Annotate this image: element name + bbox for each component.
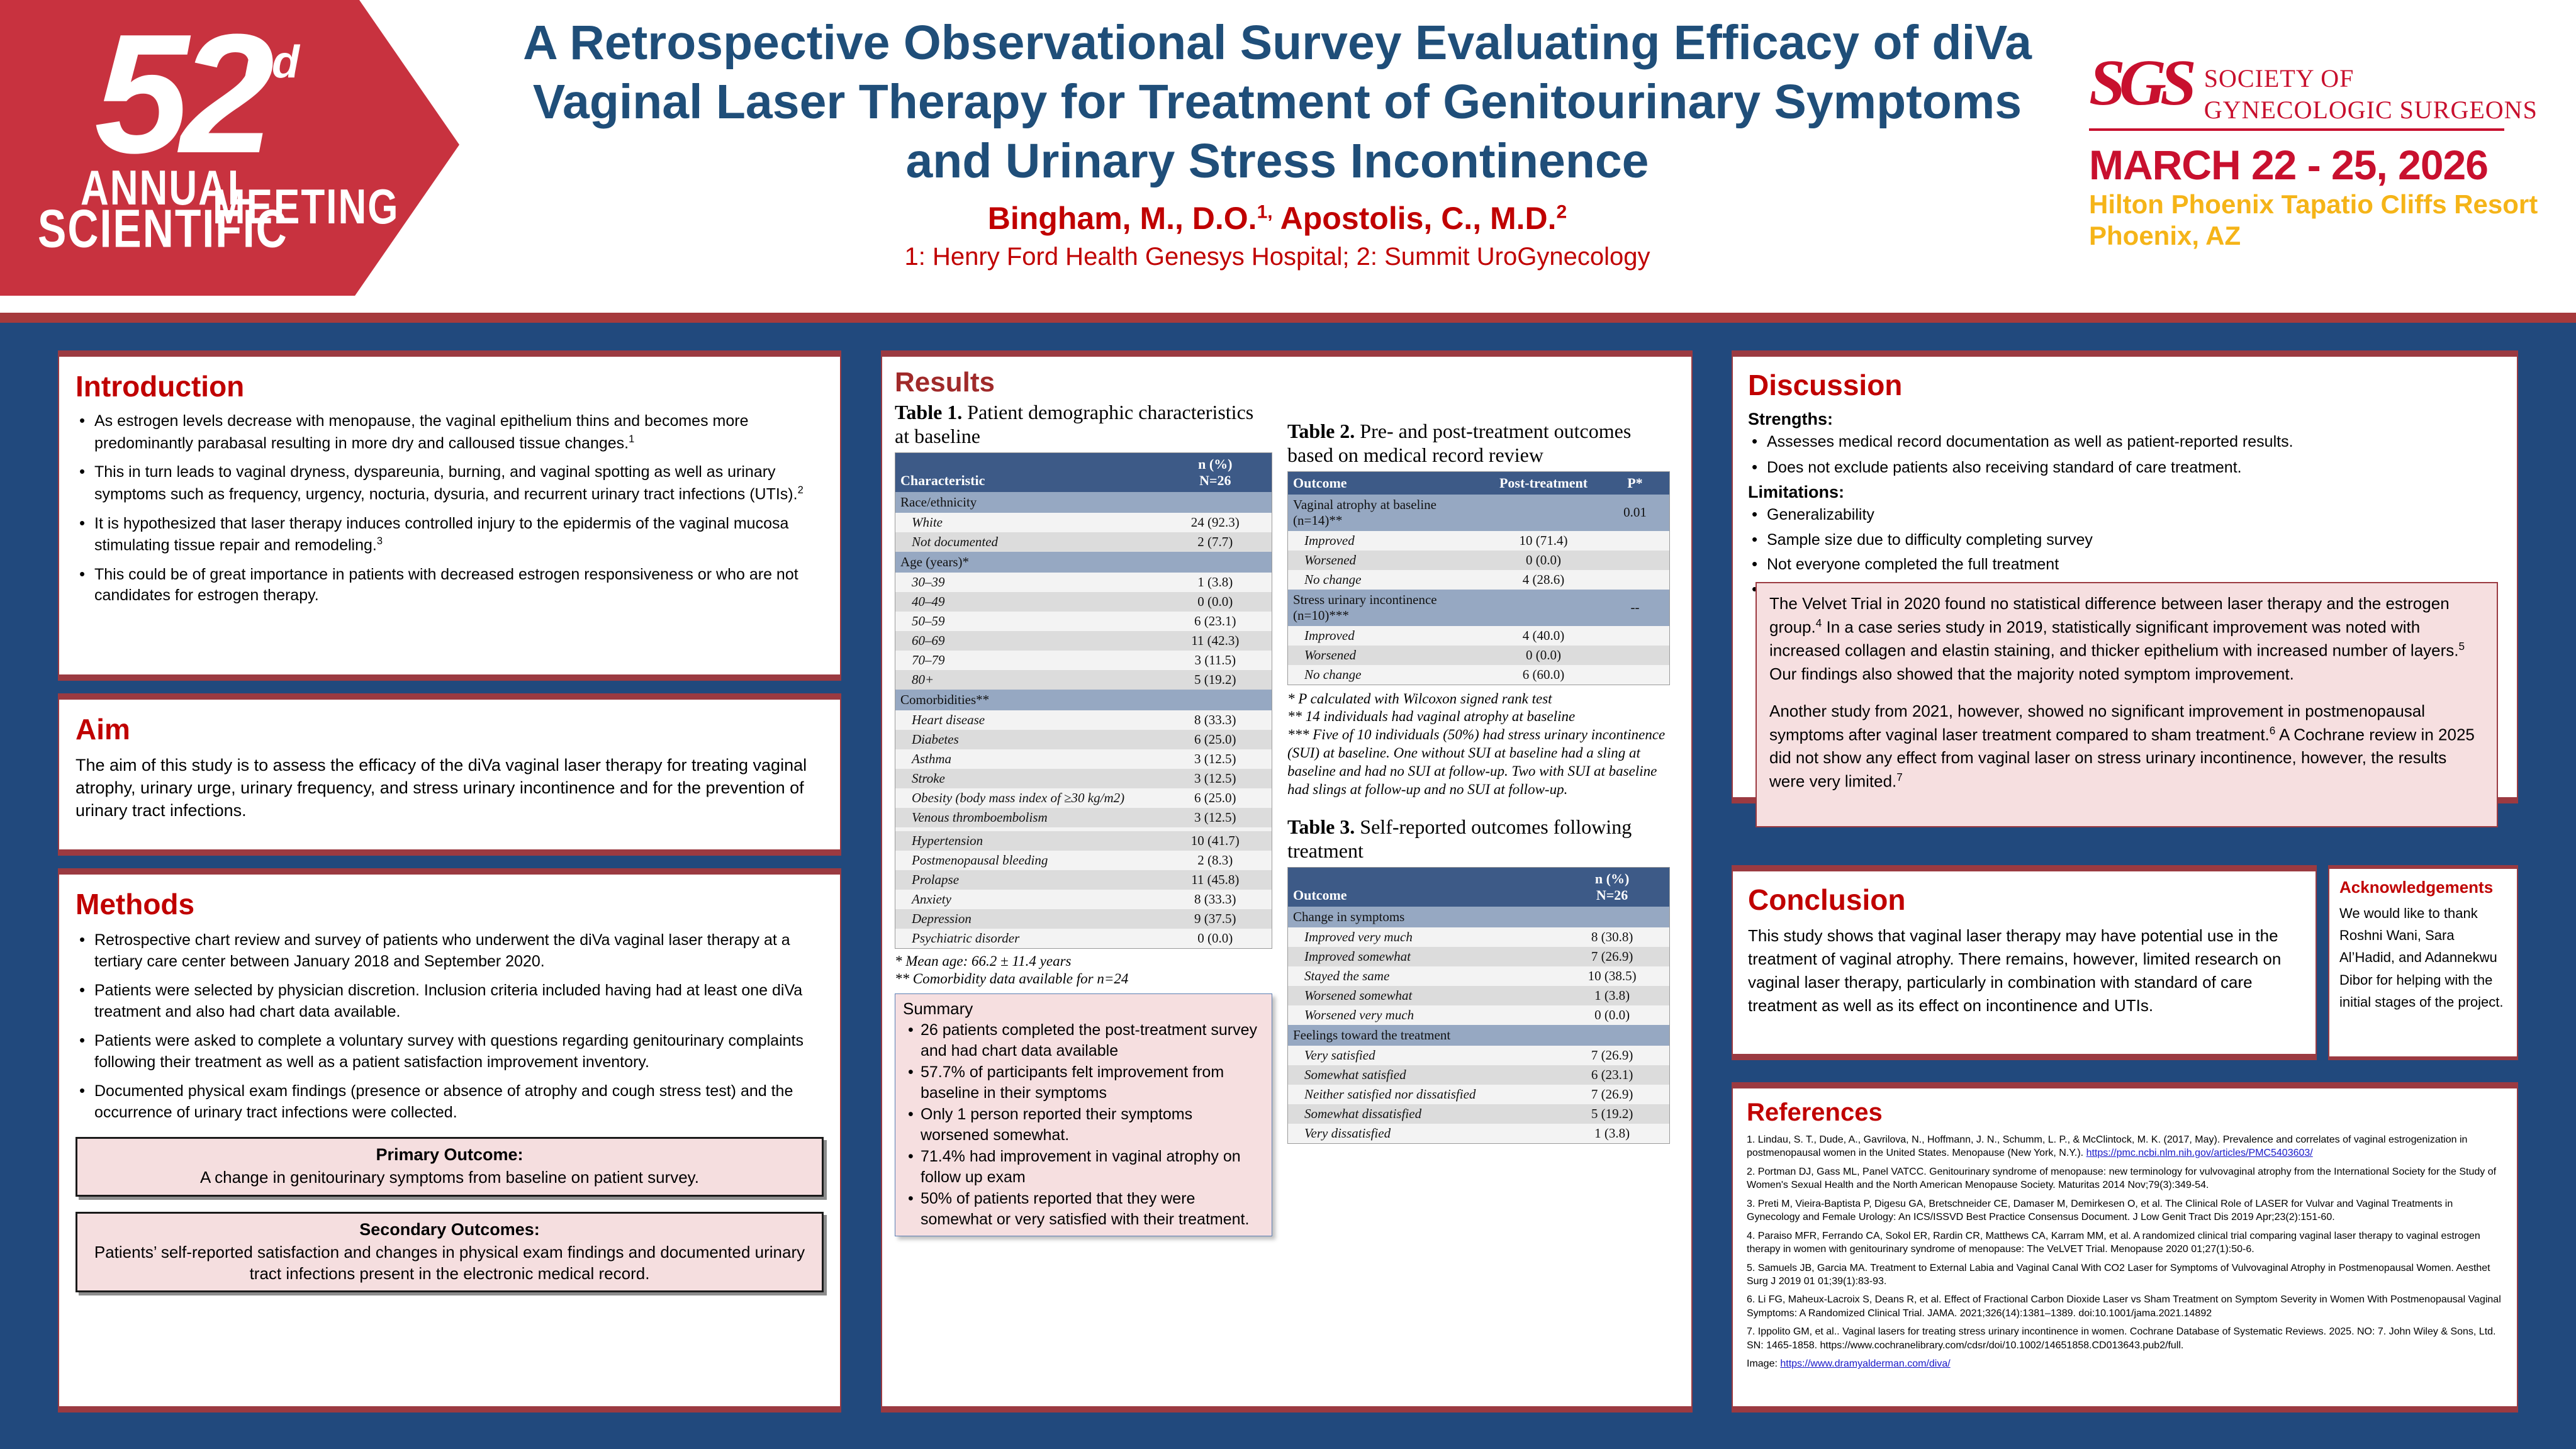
meeting-ordinal: nd xyxy=(244,36,300,88)
table-group-row: Stress urinary incontinence (n=10)***-- xyxy=(1288,590,1669,626)
table-cell-label: Not documented xyxy=(895,532,1159,552)
discussion-p2-ref-2: 7 xyxy=(1896,771,1903,783)
table1-header-count: n (%) N=26 xyxy=(1159,453,1272,492)
table-cell-label: Psychiatric disorder xyxy=(895,929,1159,948)
table-group-label: Age (years)* xyxy=(895,552,1159,573)
table1-header-count-line2: N=26 xyxy=(1164,473,1267,489)
discussion-p1-part-c: Our findings also showed that the majori… xyxy=(1769,664,2294,683)
table-row: Stayed the same10 (38.5) xyxy=(1288,966,1669,986)
table-cell-label: Worsened xyxy=(1288,646,1486,665)
table-cell-value: 8 (33.3) xyxy=(1159,710,1272,730)
list-item: This in turn leads to vaginal dryness, d… xyxy=(76,462,824,505)
methods-panel: Methods Retrospective chart review and s… xyxy=(58,868,841,1413)
table-row: Postmenopausal bleeding2 (8.3) xyxy=(895,851,1272,870)
table-cell-label: 40–49 xyxy=(895,592,1159,612)
table-row: Improved10 (71.4) xyxy=(1288,531,1669,551)
limitations-heading: Limitations: xyxy=(1748,483,2502,502)
table-cell-value: 5 (19.2) xyxy=(1159,670,1272,690)
table-cell-label: Stayed the same xyxy=(1288,966,1555,986)
affiliations: 1: Henry Ford Health Genesys Hospital; 2… xyxy=(497,243,2058,271)
table-cell-value: 2 (7.7) xyxy=(1159,532,1272,552)
table2-header-p: P* xyxy=(1601,472,1669,495)
table-cell-label: Somewhat dissatisfied xyxy=(1288,1104,1555,1124)
reference-text: 6. Li FG, Maheux-Lacroix S, Deans R, et … xyxy=(1747,1294,2501,1318)
table-row: 70–793 (11.5) xyxy=(895,651,1272,670)
table-cell-label: Hypertension xyxy=(895,831,1159,851)
reference-item: 7. Ippolito GM, et al.. Vaginal lasers f… xyxy=(1747,1325,2503,1352)
sgs-divider xyxy=(2089,128,2504,131)
table-cell-value xyxy=(1486,590,1601,626)
primary-outcome-body: A change in genitourinary symptoms from … xyxy=(87,1167,812,1189)
table-cell-label: Worsened somewhat xyxy=(1288,986,1555,1005)
discussion-p2-ref-1: 6 xyxy=(2270,724,2276,737)
author-list: Bingham, M., D.O.1, Apostolis, C., M.D.2 xyxy=(497,200,2058,237)
table-cell-value: 1 (3.8) xyxy=(1555,1124,1669,1143)
sgs-wordmark: SGS xyxy=(2089,53,2190,113)
list-item: Retrospective chart review and survey of… xyxy=(76,930,824,972)
table2-caption: Table 2. Pre- and post-treatment outcome… xyxy=(1287,420,1670,467)
table-cell-label: Prolapse xyxy=(895,870,1159,890)
table-row: Psychiatric disorder0 (0.0) xyxy=(895,929,1272,948)
list-item: Only 1 person reported their symptoms wo… xyxy=(903,1104,1264,1146)
introduction-title: Introduction xyxy=(76,369,824,403)
table2-header-outcome: Outcome xyxy=(1288,472,1486,495)
acknowledgements-title: Acknowledgements xyxy=(2339,878,2507,897)
table-cell-label: Worsened very much xyxy=(1288,1005,1555,1025)
references-list: 1. Lindau, S. T., Dude, A., Gavrilova, N… xyxy=(1747,1133,2503,1371)
table-cell-label: Worsened xyxy=(1288,551,1486,570)
list-item: It is hypothesized that laser therapy in… xyxy=(76,513,824,556)
table-row: 50–596 (23.1) xyxy=(895,612,1272,631)
table-cell-label: Improved very much xyxy=(1288,927,1555,947)
table1-caption: Table 1. Patient demographic characteris… xyxy=(895,401,1272,449)
table-cell-value: 8 (30.8) xyxy=(1555,927,1669,947)
table-cell-value: 6 (60.0) xyxy=(1486,665,1601,685)
introduction-bullet-2-text: This in turn leads to vaginal dryness, d… xyxy=(94,463,798,503)
title-block: A Retrospective Observational Survey Eva… xyxy=(497,14,2058,271)
table1-header-characteristic: Characteristic xyxy=(895,453,1159,492)
reference-text: 4. Paraiso MFR, Ferrando CA, Sokol ER, R… xyxy=(1747,1231,2480,1255)
table3-header-count-line2: N=26 xyxy=(1560,887,1664,904)
list-item: As estrogen levels decrease with menopau… xyxy=(76,411,824,454)
table-row: Prolapse11 (45.8) xyxy=(895,870,1272,890)
image-credit-label: Image: xyxy=(1747,1358,1780,1369)
table1-header-count-line1: n (%) xyxy=(1164,456,1267,473)
list-item: Does not exclude patients also receiving… xyxy=(1748,457,2502,479)
primary-outcome-box: Primary Outcome: A change in genitourina… xyxy=(76,1137,824,1197)
table-row: Very dissatisfied1 (3.8) xyxy=(1288,1124,1669,1143)
table-cell-value: 0 (0.0) xyxy=(1486,646,1601,665)
sgs-society-line-1: SOCIETY OF xyxy=(2204,63,2538,94)
table-self-reported-outcomes: Outcome n (%) N=26 Change in symptomsImp… xyxy=(1288,868,1669,1143)
table-cell-label: Anxiety xyxy=(895,890,1159,909)
table-cell-value: 2 (8.3) xyxy=(1159,851,1272,870)
list-item: 50% of patients reported that they were … xyxy=(903,1189,1264,1230)
secondary-outcomes-box: Secondary Outcomes: Patients’ self-repor… xyxy=(76,1212,824,1293)
table-cell-label: Very dissatisfied xyxy=(1288,1124,1555,1143)
table3-body: Change in symptomsImproved very much8 (3… xyxy=(1288,907,1669,1143)
list-item: Generalizability xyxy=(1748,505,2502,526)
table-cell-value: 7 (26.9) xyxy=(1555,947,1669,966)
table-cell-value: 0 (0.0) xyxy=(1159,592,1272,612)
table1-footnote-1: * Mean age: 66.2 ± 11.4 years xyxy=(895,953,1272,971)
table-cell-value: 10 (38.5) xyxy=(1555,966,1669,986)
introduction-bullet-1-ref: 1 xyxy=(629,434,634,445)
table-cell-value: 5 (19.2) xyxy=(1555,1104,1669,1124)
table-cell-label: Asthma xyxy=(895,749,1159,769)
list-item: Assesses medical record documentation as… xyxy=(1748,432,2502,453)
conclusion-panel: Conclusion This study shows that vaginal… xyxy=(1732,865,2317,1060)
table-cell-value: 4 (40.0) xyxy=(1486,626,1601,646)
reference-item: 2. Portman DJ, Gass ML, Panel VATCC. Gen… xyxy=(1747,1165,2503,1192)
table-cell-value: 9 (37.5) xyxy=(1159,909,1272,929)
meeting-venue: Hilton Phoenix Tapatio Cliffs Resort xyxy=(2089,189,2542,220)
table-cell-pvalue: -- xyxy=(1601,590,1669,626)
reference-text: 7. Ippolito GM, et al.. Vaginal lasers f… xyxy=(1747,1326,2496,1350)
strengths-heading: Strengths: xyxy=(1748,410,2502,429)
meeting-number: 52 xyxy=(94,18,266,171)
table-cell-value: 1 (3.8) xyxy=(1159,573,1272,592)
table-group-label: Comorbidities** xyxy=(895,690,1159,710)
table-cell-label: Venous thromboembolism xyxy=(895,808,1159,827)
table-row: Improved somewhat7 (26.9) xyxy=(1288,947,1669,966)
discussion-paragraph-1: The Velvet Trial in 2020 found no statis… xyxy=(1769,592,2484,686)
table-row: Somewhat satisfied6 (23.1) xyxy=(1288,1065,1669,1085)
discussion-title: Discussion xyxy=(1748,368,2502,402)
aim-text: The aim of this study is to assess the e… xyxy=(76,754,824,822)
table3-caption-label: Table 3. xyxy=(1287,815,1355,838)
table-cell-value: 1 (3.8) xyxy=(1555,986,1669,1005)
introduction-bullet-2-ref: 2 xyxy=(798,484,804,496)
poster-title-line-2: Vaginal Laser Therapy for Treatment of G… xyxy=(497,73,2058,132)
table-row: Worsened very much0 (0.0) xyxy=(1288,1005,1669,1025)
acknowledgements-text: We would like to thank Roshni Wani, Sara… xyxy=(2339,902,2507,1013)
header-divider-rule xyxy=(0,313,2576,323)
discussion-p1-ref-2: 5 xyxy=(2459,640,2465,652)
table-cell-value: 10 (41.7) xyxy=(1159,831,1272,851)
introduction-bullet-1-text: As estrogen levels decrease with menopau… xyxy=(94,412,748,452)
table-cell-label: Improved xyxy=(1288,531,1486,551)
primary-outcome-heading: Primary Outcome: xyxy=(87,1145,812,1165)
table-cell-value: 3 (12.5) xyxy=(1159,749,1272,769)
poster-title-line-1: A Retrospective Observational Survey Eva… xyxy=(497,14,2058,73)
table1-footnote-2: ** Comorbidity data available for n=24 xyxy=(895,970,1272,988)
table-cell-value: 3 (12.5) xyxy=(1159,808,1272,827)
table-row: Not documented2 (7.7) xyxy=(895,532,1272,552)
results-title: Results xyxy=(895,367,1679,398)
table-row: Improved very much8 (30.8) xyxy=(1288,927,1669,947)
table-cell-label: Improved somewhat xyxy=(1288,947,1555,966)
summary-bullet-list: 26 patients completed the post-treatment… xyxy=(903,1020,1264,1230)
discussion-highlight-box: The Velvet Trial in 2020 found no statis… xyxy=(1756,582,2498,827)
table1-caption-label: Table 1. xyxy=(895,401,962,423)
introduction-bullet-4-text: This could be of great importance in pat… xyxy=(94,566,798,605)
secondary-outcomes-heading: Secondary Outcomes: xyxy=(87,1220,812,1239)
table-cell-value xyxy=(1555,907,1669,927)
table-row: Stroke3 (12.5) xyxy=(895,769,1272,788)
table-row: Worsened0 (0.0) xyxy=(1288,646,1669,665)
table2-caption-label: Table 2. xyxy=(1287,420,1355,442)
table-group-row: Age (years)* xyxy=(895,552,1272,573)
table2-footnote-2: ** 14 individuals had vaginal atrophy at… xyxy=(1287,708,1670,726)
table-cell-value: 6 (25.0) xyxy=(1159,788,1272,808)
table-cell-value: 8 (33.3) xyxy=(1159,890,1272,909)
meeting-dates: MARCH 22 - 25, 2026 xyxy=(2089,141,2542,189)
table3-wrapper: Outcome n (%) N=26 Change in symptomsImp… xyxy=(1287,867,1670,1144)
reference-item: 4. Paraiso MFR, Ferrando CA, Sokol ER, R… xyxy=(1747,1229,2503,1256)
table-row: 40–490 (0.0) xyxy=(895,592,1272,612)
table-group-row: Feelings toward the treatment xyxy=(1288,1025,1669,1046)
table-cell-label: 70–79 xyxy=(895,651,1159,670)
list-item: Not everyone completed the full treatmen… xyxy=(1748,554,2502,576)
table-row: Obesity (body mass index of ≥30 kg/m2)6 … xyxy=(895,788,1272,808)
image-credit-link[interactable]: https://www.dramyalderman.com/diva/ xyxy=(1780,1358,1950,1369)
table-row: 60–6911 (42.3) xyxy=(895,631,1272,651)
image-credit: Image: https://www.dramyalderman.com/div… xyxy=(1747,1357,2503,1370)
table-cell-label: Postmenopausal bleeding xyxy=(895,851,1159,870)
references-panel: References 1. Lindau, S. T., Dude, A., G… xyxy=(1732,1082,2518,1413)
table-cell-pvalue xyxy=(1601,551,1669,570)
introduction-bullet-3-ref: 3 xyxy=(377,535,383,547)
table3-header-outcome: Outcome xyxy=(1288,868,1555,907)
table-cell-label: Obesity (body mass index of ≥30 kg/m2) xyxy=(895,788,1159,808)
table-row: Depression9 (37.5) xyxy=(895,909,1272,929)
table-cell-label: Improved xyxy=(1288,626,1486,646)
table-group-label: Feelings toward the treatment xyxy=(1288,1025,1555,1046)
table2-footnote-3: *** Five of 10 individuals (50%) had str… xyxy=(1287,726,1670,799)
table-group-row: Race/ethnicity xyxy=(895,492,1272,513)
table-group-row: Change in symptoms xyxy=(1288,907,1669,927)
aim-panel: Aim The aim of this study is to assess t… xyxy=(58,693,841,856)
table-group-label: Change in symptoms xyxy=(1288,907,1555,927)
table1-wrapper: Characteristic n (%) N=26 Race/ethnicity… xyxy=(895,452,1272,949)
reference-item: 6. Li FG, Maheux-Lacroix S, Deans R, et … xyxy=(1747,1293,2503,1320)
author-1: Bingham, M., D.O. xyxy=(988,201,1257,236)
table-cell-label: Neither satisfied nor dissatisfied xyxy=(1288,1085,1555,1104)
table-cell-value: 0 (0.0) xyxy=(1486,551,1601,570)
table-group-label: Vaginal atrophy at baseline (n=14)** xyxy=(1288,495,1486,531)
table-cell-value: 4 (28.6) xyxy=(1486,570,1601,590)
table-cell-value: 6 (23.1) xyxy=(1159,612,1272,631)
table-cell-label: No change xyxy=(1288,570,1486,590)
methods-title: Methods xyxy=(76,887,824,921)
table-row: Heart disease8 (33.3) xyxy=(895,710,1272,730)
table-row: No change4 (28.6) xyxy=(1288,570,1669,590)
conclusion-title: Conclusion xyxy=(1748,883,2300,917)
table-cell-label: Stroke xyxy=(895,769,1159,788)
annual-meeting-banner: 52 nd ANNUAL MEETING SCIENTIFIC xyxy=(0,0,484,315)
table-cell-label: Very satisfied xyxy=(1288,1046,1555,1065)
table-cell-label: 60–69 xyxy=(895,631,1159,651)
table-cell-pvalue: 0.01 xyxy=(1601,495,1669,531)
table-cell-value: 11 (45.8) xyxy=(1159,870,1272,890)
table3-header-count: n (%) N=26 xyxy=(1555,868,1669,907)
banner-scientific-label: SCIENTIFIC xyxy=(38,198,288,260)
strengths-list: Assesses medical record documentation as… xyxy=(1748,432,2502,478)
table-row: Hypertension10 (41.7) xyxy=(895,831,1272,851)
table3-header-count-line1: n (%) xyxy=(1560,871,1664,887)
table-cell-pvalue xyxy=(1601,626,1669,646)
list-item: Documented physical exam findings (prese… xyxy=(76,1081,824,1123)
table-cell-value xyxy=(1555,1025,1669,1046)
table-cell-value xyxy=(1486,495,1601,531)
table-cell-value: 0 (0.0) xyxy=(1159,929,1272,948)
list-item: Patients were selected by physician disc… xyxy=(76,980,824,1022)
reference-text: 5. Samuels JB, Garcia MA. Treatment to E… xyxy=(1747,1263,2490,1287)
table-cell-label: Diabetes xyxy=(895,730,1159,749)
references-title: References xyxy=(1747,1099,2503,1127)
table3-caption: Table 3. Self-reported outcomes followin… xyxy=(1287,815,1670,863)
poster-header: 52 nd ANNUAL MEETING SCIENTIFIC A Retros… xyxy=(0,0,2576,313)
table-row: Venous thromboembolism3 (12.5) xyxy=(895,808,1272,827)
table-cell-value: 0 (0.0) xyxy=(1555,1005,1669,1025)
table-cell-value xyxy=(1159,492,1272,513)
introduction-panel: Introduction As estrogen levels decrease… xyxy=(58,350,841,681)
introduction-bullet-3-text: It is hypothesized that laser therapy in… xyxy=(94,515,788,554)
table-cell-label: 30–39 xyxy=(895,573,1159,592)
table-patient-demographics: Characteristic n (%) N=26 Race/ethnicity… xyxy=(895,453,1272,948)
author-1-affil: 1, xyxy=(1257,201,1273,222)
meeting-city: Phoenix, AZ xyxy=(2089,220,2542,252)
reference-item: 3. Preti M, Vieira-Baptista P, Digesu GA… xyxy=(1747,1197,2503,1224)
table-cell-value: 7 (26.9) xyxy=(1555,1046,1669,1065)
table1-body: Race/ethnicityWhite24 (92.3)Not document… xyxy=(895,492,1272,948)
poster-title-line-3: and Urinary Stress Incontinence xyxy=(497,132,2058,191)
table-row: White24 (92.3) xyxy=(895,513,1272,532)
table-cell-pvalue xyxy=(1601,665,1669,685)
table2-body: Vaginal atrophy at baseline (n=14)**0.01… xyxy=(1288,495,1669,685)
table-row: Very satisfied7 (26.9) xyxy=(1288,1046,1669,1065)
table-row: Asthma3 (12.5) xyxy=(895,749,1272,769)
table-row: Worsened somewhat1 (3.8) xyxy=(1288,986,1669,1005)
summary-heading: Summary xyxy=(903,999,1264,1019)
list-item: 71.4% had improvement in vaginal atrophy… xyxy=(903,1146,1264,1188)
table-cell-pvalue xyxy=(1601,570,1669,590)
table-row: Anxiety8 (33.3) xyxy=(895,890,1272,909)
table2-header-post-treatment: Post-treatment xyxy=(1486,472,1601,495)
reference-item: 1. Lindau, S. T., Dude, A., Gavrilova, N… xyxy=(1747,1133,2503,1160)
table-cell-label: Heart disease xyxy=(895,710,1159,730)
table2-wrapper: Outcome Post-treatment P* Vaginal atroph… xyxy=(1287,471,1670,685)
table-cell-label: White xyxy=(895,513,1159,532)
table-row: Worsened0 (0.0) xyxy=(1288,551,1669,570)
table-cell-value: 10 (71.4) xyxy=(1486,531,1601,551)
table-cell-value: 3 (12.5) xyxy=(1159,769,1272,788)
table-row: Improved4 (40.0) xyxy=(1288,626,1669,646)
table-pre-post-outcomes: Outcome Post-treatment P* Vaginal atroph… xyxy=(1288,472,1669,685)
table-cell-value: 3 (11.5) xyxy=(1159,651,1272,670)
list-item: 26 patients completed the post-treatment… xyxy=(903,1020,1264,1061)
table-cell-value: 7 (26.9) xyxy=(1555,1085,1669,1104)
table-group-row: Comorbidities** xyxy=(895,690,1272,710)
table-cell-pvalue xyxy=(1601,531,1669,551)
table-cell-label: Depression xyxy=(895,909,1159,929)
table-cell-value xyxy=(1159,690,1272,710)
list-item: Sample size due to difficulty completing… xyxy=(1748,530,2502,551)
secondary-outcomes-body: Patients’ self-reported satisfaction and… xyxy=(87,1242,812,1285)
table-group-label: Race/ethnicity xyxy=(895,492,1159,513)
reference-text: 2. Portman DJ, Gass ML, Panel VATCC. Gen… xyxy=(1747,1166,2496,1190)
list-item: This could be of great importance in pat… xyxy=(76,564,824,607)
table-row: Somewhat dissatisfied5 (19.2) xyxy=(1288,1104,1669,1124)
table-row: 80+5 (19.2) xyxy=(895,670,1272,690)
introduction-bullet-list: As estrogen levels decrease with menopau… xyxy=(76,411,824,607)
author-2-affil: 2 xyxy=(1557,201,1567,222)
results-panel: Results Table 1. Patient demographic cha… xyxy=(881,350,1693,1413)
table-cell-label: No change xyxy=(1288,665,1486,685)
table-row: No change6 (60.0) xyxy=(1288,665,1669,685)
discussion-paragraph-2: Another study from 2021, however, showed… xyxy=(1769,700,2484,793)
conclusion-text: This study shows that vaginal laser ther… xyxy=(1748,924,2300,1017)
sgs-logo-block: SGS SOCIETY OF GYNECOLOGIC SURGEONS MARC… xyxy=(2089,53,2542,251)
sgs-society-line-2: GYNECOLOGIC SURGEONS xyxy=(2204,94,2538,126)
table-row: Neither satisfied nor dissatisfied7 (26.… xyxy=(1288,1085,1669,1104)
list-item: Patients were asked to complete a volunt… xyxy=(76,1031,824,1073)
table-cell-value: 6 (25.0) xyxy=(1159,730,1272,749)
table-cell-value: 24 (92.3) xyxy=(1159,513,1272,532)
table-row: 30–391 (3.8) xyxy=(895,573,1272,592)
author-2: Apostolis, C., M.D. xyxy=(1273,201,1557,236)
discussion-p1-part-b: In a case series study in 2019, statisti… xyxy=(1769,618,2459,661)
aim-title: Aim xyxy=(76,712,824,746)
reference-item: 5. Samuels JB, Garcia MA. Treatment to E… xyxy=(1747,1262,2503,1289)
methods-bullet-list: Retrospective chart review and survey of… xyxy=(76,930,824,1123)
summary-box: Summary 26 patients completed the post-t… xyxy=(895,993,1272,1236)
table-cell-label: 80+ xyxy=(895,670,1159,690)
acknowledgements-panel: Acknowledgements We would like to thank … xyxy=(2328,865,2518,1060)
table-cell-pvalue xyxy=(1601,646,1669,665)
discussion-p1-ref-1: 4 xyxy=(1816,617,1822,629)
table-row: Diabetes6 (25.0) xyxy=(895,730,1272,749)
list-item: 57.7% of participants felt improvement f… xyxy=(903,1062,1264,1104)
table-cell-value: 6 (23.1) xyxy=(1555,1065,1669,1085)
table2-footnote-1: * P calculated with Wilcoxon signed rank… xyxy=(1287,690,1670,708)
reference-link[interactable]: https://pmc.ncbi.nlm.nih.gov/articles/PM… xyxy=(2086,1148,2313,1158)
table-cell-value: 11 (42.3) xyxy=(1159,631,1272,651)
table-cell-label: 50–59 xyxy=(895,612,1159,631)
table-cell-label: Somewhat satisfied xyxy=(1288,1065,1555,1085)
table-group-label: Stress urinary incontinence (n=10)*** xyxy=(1288,590,1486,626)
reference-text: 3. Preti M, Vieira-Baptista P, Digesu GA… xyxy=(1747,1199,2453,1222)
table-group-row: Vaginal atrophy at baseline (n=14)**0.01 xyxy=(1288,495,1669,531)
table-cell-value xyxy=(1159,552,1272,573)
